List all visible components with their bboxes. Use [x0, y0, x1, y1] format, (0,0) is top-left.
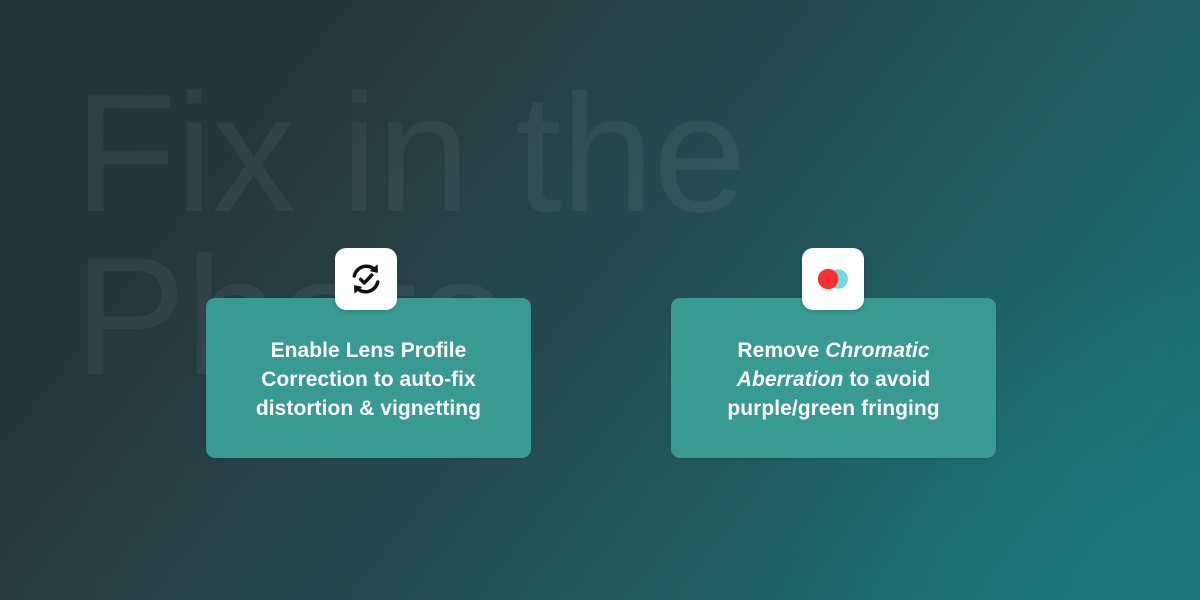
- chromatic-aberration-icon: [814, 264, 852, 294]
- tip-card-2-text: Remove Chromatic Aberration to avoid pur…: [699, 333, 968, 423]
- tip-card-1[interactable]: Enable Lens Profile Correction to auto-f…: [206, 298, 531, 458]
- tip-card-1-segment-0: Enable Lens Profile Correction to auto-f…: [256, 339, 481, 420]
- tip-card-2[interactable]: Remove Chromatic Aberration to avoid pur…: [671, 298, 996, 458]
- tip-card-2-icon-badge: [802, 248, 864, 310]
- tip-card-1-text: Enable Lens Profile Correction to auto-f…: [234, 333, 503, 423]
- slide-canvas: Fix in the Photo Enable Lens Profile Cor…: [0, 0, 1200, 600]
- tip-card-2-segment-0: Remove: [737, 339, 825, 362]
- tip-card-1-icon-badge: [335, 248, 397, 310]
- sync-check-icon: [347, 260, 385, 298]
- tips-card-row: Enable Lens Profile Correction to auto-f…: [0, 0, 1200, 600]
